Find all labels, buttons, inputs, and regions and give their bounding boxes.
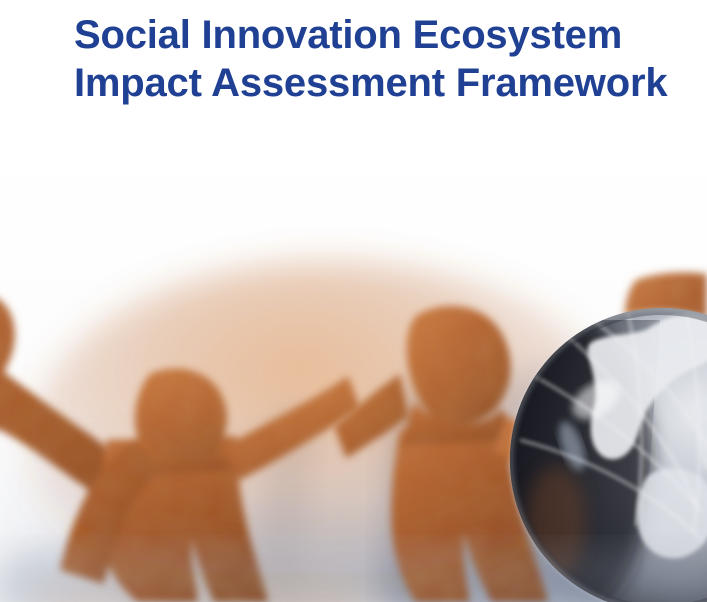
cover-photo bbox=[0, 140, 707, 602]
cover-photo-illustration bbox=[0, 140, 707, 602]
page-title-line-1: Social Innovation Ecosystem bbox=[74, 11, 694, 59]
page-title-line-2: Impact Assessment Framework bbox=[74, 59, 694, 107]
cover-slide: Social Innovation Ecosystem Impact Asses… bbox=[0, 0, 707, 602]
page-title: Social Innovation Ecosystem Impact Asses… bbox=[74, 11, 694, 107]
